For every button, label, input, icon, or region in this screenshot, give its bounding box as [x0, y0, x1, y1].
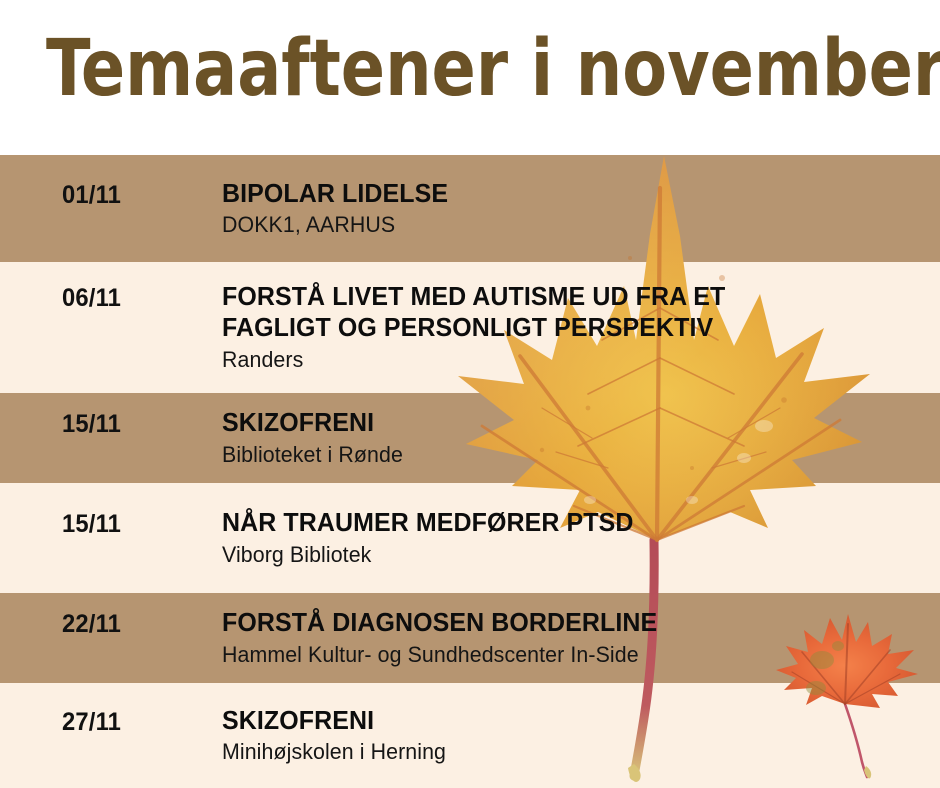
schedule-row[interactable]: 01/11BIPOLAR LIDELSEDOKK1, AARHUS [0, 155, 940, 262]
event-date: 15/11 [62, 410, 121, 439]
schedule-row[interactable]: 22/11FORSTÅ DIAGNOSEN BORDERLINEHammel K… [0, 593, 940, 683]
event-body: FORSTÅ DIAGNOSEN BORDERLINEHammel Kultur… [222, 607, 922, 668]
event-title: FORSTÅ DIAGNOSEN BORDERLINE [222, 607, 894, 639]
event-date: 01/11 [62, 181, 121, 210]
event-location: Viborg Bibliotek [222, 541, 901, 569]
event-body: NÅR TRAUMER MEDFØRER PTSDViborg Bibliote… [222, 507, 922, 568]
event-date: 06/11 [62, 284, 121, 313]
event-body: BIPOLAR LIDELSEDOKK1, AARHUS [222, 178, 922, 239]
event-body: SKIZOFRENIBiblioteket i Rønde [222, 407, 922, 468]
schedule-row[interactable]: 15/11SKIZOFRENIBiblioteket i Rønde [0, 393, 940, 483]
event-title: BIPOLAR LIDELSE [222, 178, 894, 210]
event-date: 15/11 [62, 510, 121, 539]
event-location: Randers [222, 346, 901, 374]
schedule-row[interactable]: 15/11NÅR TRAUMER MEDFØRER PTSDViborg Bib… [0, 483, 940, 593]
event-body: FORSTÅ LIVET MED AUTISME UD FRA ET FAGLI… [222, 281, 922, 374]
event-location: Hammel Kultur- og Sundhedscenter In-Side [222, 641, 901, 669]
event-location: Minihøjskolen i Herning [222, 738, 901, 766]
event-title: SKIZOFRENI [222, 705, 894, 737]
event-title: NÅR TRAUMER MEDFØRER PTSD [222, 507, 894, 539]
event-title: SKIZOFRENI [222, 407, 894, 439]
event-body: SKIZOFRENIMinihøjskolen i Herning [222, 705, 922, 766]
schedule-row[interactable]: 06/11FORSTÅ LIVET MED AUTISME UD FRA ET … [0, 262, 940, 393]
event-location: DOKK1, AARHUS [222, 211, 901, 239]
schedule-row[interactable]: 27/11SKIZOFRENIMinihøjskolen i Herning [0, 683, 940, 788]
event-date: 27/11 [62, 708, 121, 737]
event-date: 22/11 [62, 610, 121, 639]
event-title: FORSTÅ LIVET MED AUTISME UD FRA ET FAGLI… [222, 281, 894, 344]
poster-canvas: Temaaftener i november 01/11BIPOLAR LIDE… [0, 0, 940, 788]
event-location: Biblioteket i Rønde [222, 441, 901, 469]
schedule-list: 01/11BIPOLAR LIDELSEDOKK1, AARHUS06/11FO… [0, 0, 940, 788]
